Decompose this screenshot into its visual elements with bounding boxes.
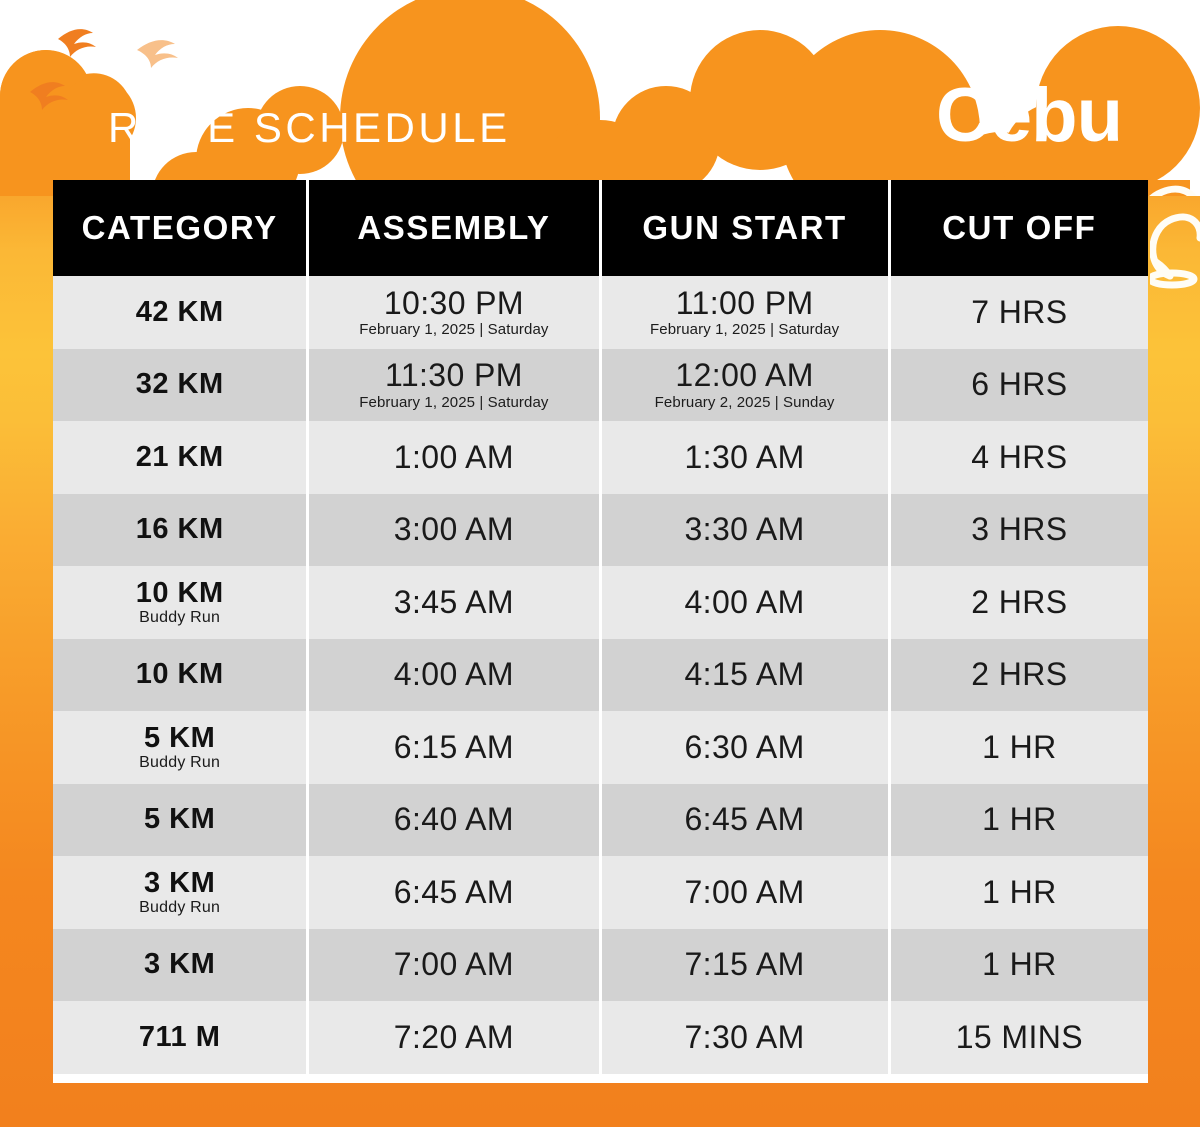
cell-cut-off: 3 HRS <box>891 494 1148 567</box>
cell-category: 3 KM <box>53 929 306 1002</box>
gun-start-time: 7:30 AM <box>684 1020 804 1055</box>
category-note: Buddy Run <box>139 899 220 917</box>
gun-start-time: 3:30 AM <box>684 512 804 547</box>
gun-start-time: 11:00 PM <box>676 286 814 321</box>
cut-off-value: 4 HRS <box>971 439 1067 476</box>
category-label: 21 KM <box>136 442 224 473</box>
table-row: 16 KM3:00 AM3:30 AM3 HRS <box>53 494 1148 567</box>
table-body: 42 KM10:30 PMFebruary 1, 2025 | Saturday… <box>53 276 1148 1074</box>
cell-cut-off: 1 HR <box>891 711 1148 784</box>
assembly-time: 1:00 AM <box>394 440 514 475</box>
category-label: 3 KM <box>144 868 215 899</box>
column-header-gun-start: GUN START <box>602 180 888 276</box>
cell-gun-start: 4:00 AM <box>602 566 888 639</box>
assembly-time: 3:00 AM <box>394 512 514 547</box>
assembly-time: 3:45 AM <box>394 585 514 620</box>
table-bottom-edge <box>53 1074 1148 1083</box>
gun-start-time: 12:00 AM <box>675 358 813 393</box>
cut-off-value: 7 HRS <box>971 294 1067 331</box>
category-label: 16 KM <box>136 514 224 545</box>
gun-start-date: February 1, 2025 | Saturday <box>650 322 839 339</box>
cell-cut-off: 1 HR <box>891 784 1148 857</box>
gun-start-time: 7:00 AM <box>684 875 804 910</box>
category-label: 5 KM <box>144 723 215 754</box>
table-row: 5 KMBuddy Run6:15 AM6:30 AM1 HR <box>53 711 1148 784</box>
cell-cut-off: 2 HRS <box>891 639 1148 712</box>
table-row: 3 KM7:00 AM7:15 AM1 HR <box>53 929 1148 1002</box>
assembly-time: 10:30 PM <box>384 286 524 321</box>
cell-assembly: 7:00 AM <box>309 929 598 1002</box>
category-label: 711 M <box>139 1022 221 1053</box>
category-label: 10 KM <box>136 659 224 690</box>
assembly-time: 6:45 AM <box>394 875 514 910</box>
race-schedule-poster: RACE SCHEDULE Cebu CATEGORY ASSEMBLY GUN… <box>0 0 1200 1127</box>
cell-category: 10 KMBuddy Run <box>53 566 306 639</box>
table-row: 10 KMBuddy Run3:45 AM4:00 AM2 HRS <box>53 566 1148 639</box>
cell-cut-off: 1 HR <box>891 856 1148 929</box>
cut-off-value: 1 HR <box>982 801 1057 838</box>
cell-gun-start: 7:00 AM <box>602 856 888 929</box>
cell-cut-off: 4 HRS <box>891 421 1148 494</box>
gun-start-time: 6:30 AM <box>684 730 804 765</box>
cell-assembly: 3:00 AM <box>309 494 598 567</box>
cell-gun-start: 6:45 AM <box>602 784 888 857</box>
cell-cut-off: 7 HRS <box>891 276 1148 349</box>
cell-assembly: 10:30 PMFebruary 1, 2025 | Saturday <box>309 276 598 349</box>
category-label: 10 KM <box>136 578 224 609</box>
cut-off-value: 1 HR <box>982 729 1057 766</box>
assembly-time: 6:15 AM <box>394 730 514 765</box>
cell-category: 42 KM <box>53 276 306 349</box>
category-label: 42 KM <box>136 297 224 328</box>
table-header-row: CATEGORY ASSEMBLY GUN START CUT OFF <box>53 180 1148 276</box>
cell-gun-start: 11:00 PMFebruary 1, 2025 | Saturday <box>602 276 888 349</box>
column-header-assembly: ASSEMBLY <box>309 180 598 276</box>
cell-cut-off: 15 MINS <box>891 1001 1148 1074</box>
cell-gun-start: 3:30 AM <box>602 494 888 567</box>
assembly-date: February 1, 2025 | Saturday <box>359 322 548 339</box>
cell-assembly: 6:40 AM <box>309 784 598 857</box>
assembly-time: 4:00 AM <box>394 657 514 692</box>
cell-gun-start: 7:15 AM <box>602 929 888 1002</box>
cell-assembly: 11:30 PMFebruary 1, 2025 | Saturday <box>309 349 598 422</box>
cloud-swirl-right-icon <box>1150 180 1200 320</box>
brand-logo: Cebu <box>936 78 1122 154</box>
cell-category: 711 M <box>53 1001 306 1074</box>
cut-off-value: 2 HRS <box>971 656 1067 693</box>
table-row: 5 KM6:40 AM6:45 AM1 HR <box>53 784 1148 857</box>
seagull-icon <box>137 40 178 68</box>
cell-category: 10 KM <box>53 639 306 712</box>
table-row: 32 KM11:30 PMFebruary 1, 2025 | Saturday… <box>53 349 1148 422</box>
assembly-time: 7:00 AM <box>394 947 514 982</box>
category-note: Buddy Run <box>139 754 220 772</box>
cell-assembly: 6:45 AM <box>309 856 598 929</box>
cell-cut-off: 2 HRS <box>891 566 1148 639</box>
cell-assembly: 3:45 AM <box>309 566 598 639</box>
cell-gun-start: 4:15 AM <box>602 639 888 712</box>
cell-category: 3 KMBuddy Run <box>53 856 306 929</box>
cell-cut-off: 1 HR <box>891 929 1148 1002</box>
gun-start-time: 4:00 AM <box>684 585 804 620</box>
table-row: 711 M7:20 AM7:30 AM15 MINS <box>53 1001 1148 1074</box>
gun-start-time: 4:15 AM <box>684 657 804 692</box>
cell-category: 32 KM <box>53 349 306 422</box>
gun-start-time: 1:30 AM <box>684 440 804 475</box>
cell-gun-start: 7:30 AM <box>602 1001 888 1074</box>
cut-off-value: 1 HR <box>982 874 1057 911</box>
cell-assembly: 7:20 AM <box>309 1001 598 1074</box>
assembly-date: February 1, 2025 | Saturday <box>359 395 548 412</box>
table-row: 10 KM4:00 AM4:15 AM2 HRS <box>53 639 1148 712</box>
cell-category: 5 KMBuddy Run <box>53 711 306 784</box>
assembly-time: 11:30 PM <box>385 358 523 393</box>
cut-off-value: 2 HRS <box>971 584 1067 621</box>
category-label: 5 KM <box>144 804 215 835</box>
cell-cut-off: 6 HRS <box>891 349 1148 422</box>
column-header-cut-off: CUT OFF <box>891 180 1148 276</box>
cell-gun-start: 12:00 AMFebruary 2, 2025 | Sunday <box>602 349 888 422</box>
cell-gun-start: 1:30 AM <box>602 421 888 494</box>
category-label: 32 KM <box>136 369 224 400</box>
category-note: Buddy Run <box>139 609 220 627</box>
cell-category: 21 KM <box>53 421 306 494</box>
cut-off-value: 6 HRS <box>971 366 1067 403</box>
cut-off-value: 1 HR <box>982 946 1057 983</box>
page-title: RACE SCHEDULE <box>108 104 511 152</box>
cell-assembly: 1:00 AM <box>309 421 598 494</box>
category-label: 3 KM <box>144 949 215 980</box>
cell-category: 16 KM <box>53 494 306 567</box>
seagull-icon <box>58 29 96 57</box>
column-header-category: CATEGORY <box>53 180 306 276</box>
gun-start-time: 6:45 AM <box>684 802 804 837</box>
cut-off-value: 3 HRS <box>971 511 1067 548</box>
table-row: 42 KM10:30 PMFebruary 1, 2025 | Saturday… <box>53 276 1148 349</box>
cut-off-value: 15 MINS <box>956 1019 1083 1056</box>
assembly-time: 6:40 AM <box>394 802 514 837</box>
cell-assembly: 6:15 AM <box>309 711 598 784</box>
race-schedule-table: CATEGORY ASSEMBLY GUN START CUT OFF 42 K… <box>53 180 1148 1083</box>
cell-gun-start: 6:30 AM <box>602 711 888 784</box>
gun-start-time: 7:15 AM <box>684 947 804 982</box>
table-row: 21 KM1:00 AM1:30 AM4 HRS <box>53 421 1148 494</box>
assembly-time: 7:20 AM <box>394 1020 514 1055</box>
table-row: 3 KMBuddy Run6:45 AM7:00 AM1 HR <box>53 856 1148 929</box>
cell-assembly: 4:00 AM <box>309 639 598 712</box>
gun-start-date: February 2, 2025 | Sunday <box>655 395 835 412</box>
cell-category: 5 KM <box>53 784 306 857</box>
